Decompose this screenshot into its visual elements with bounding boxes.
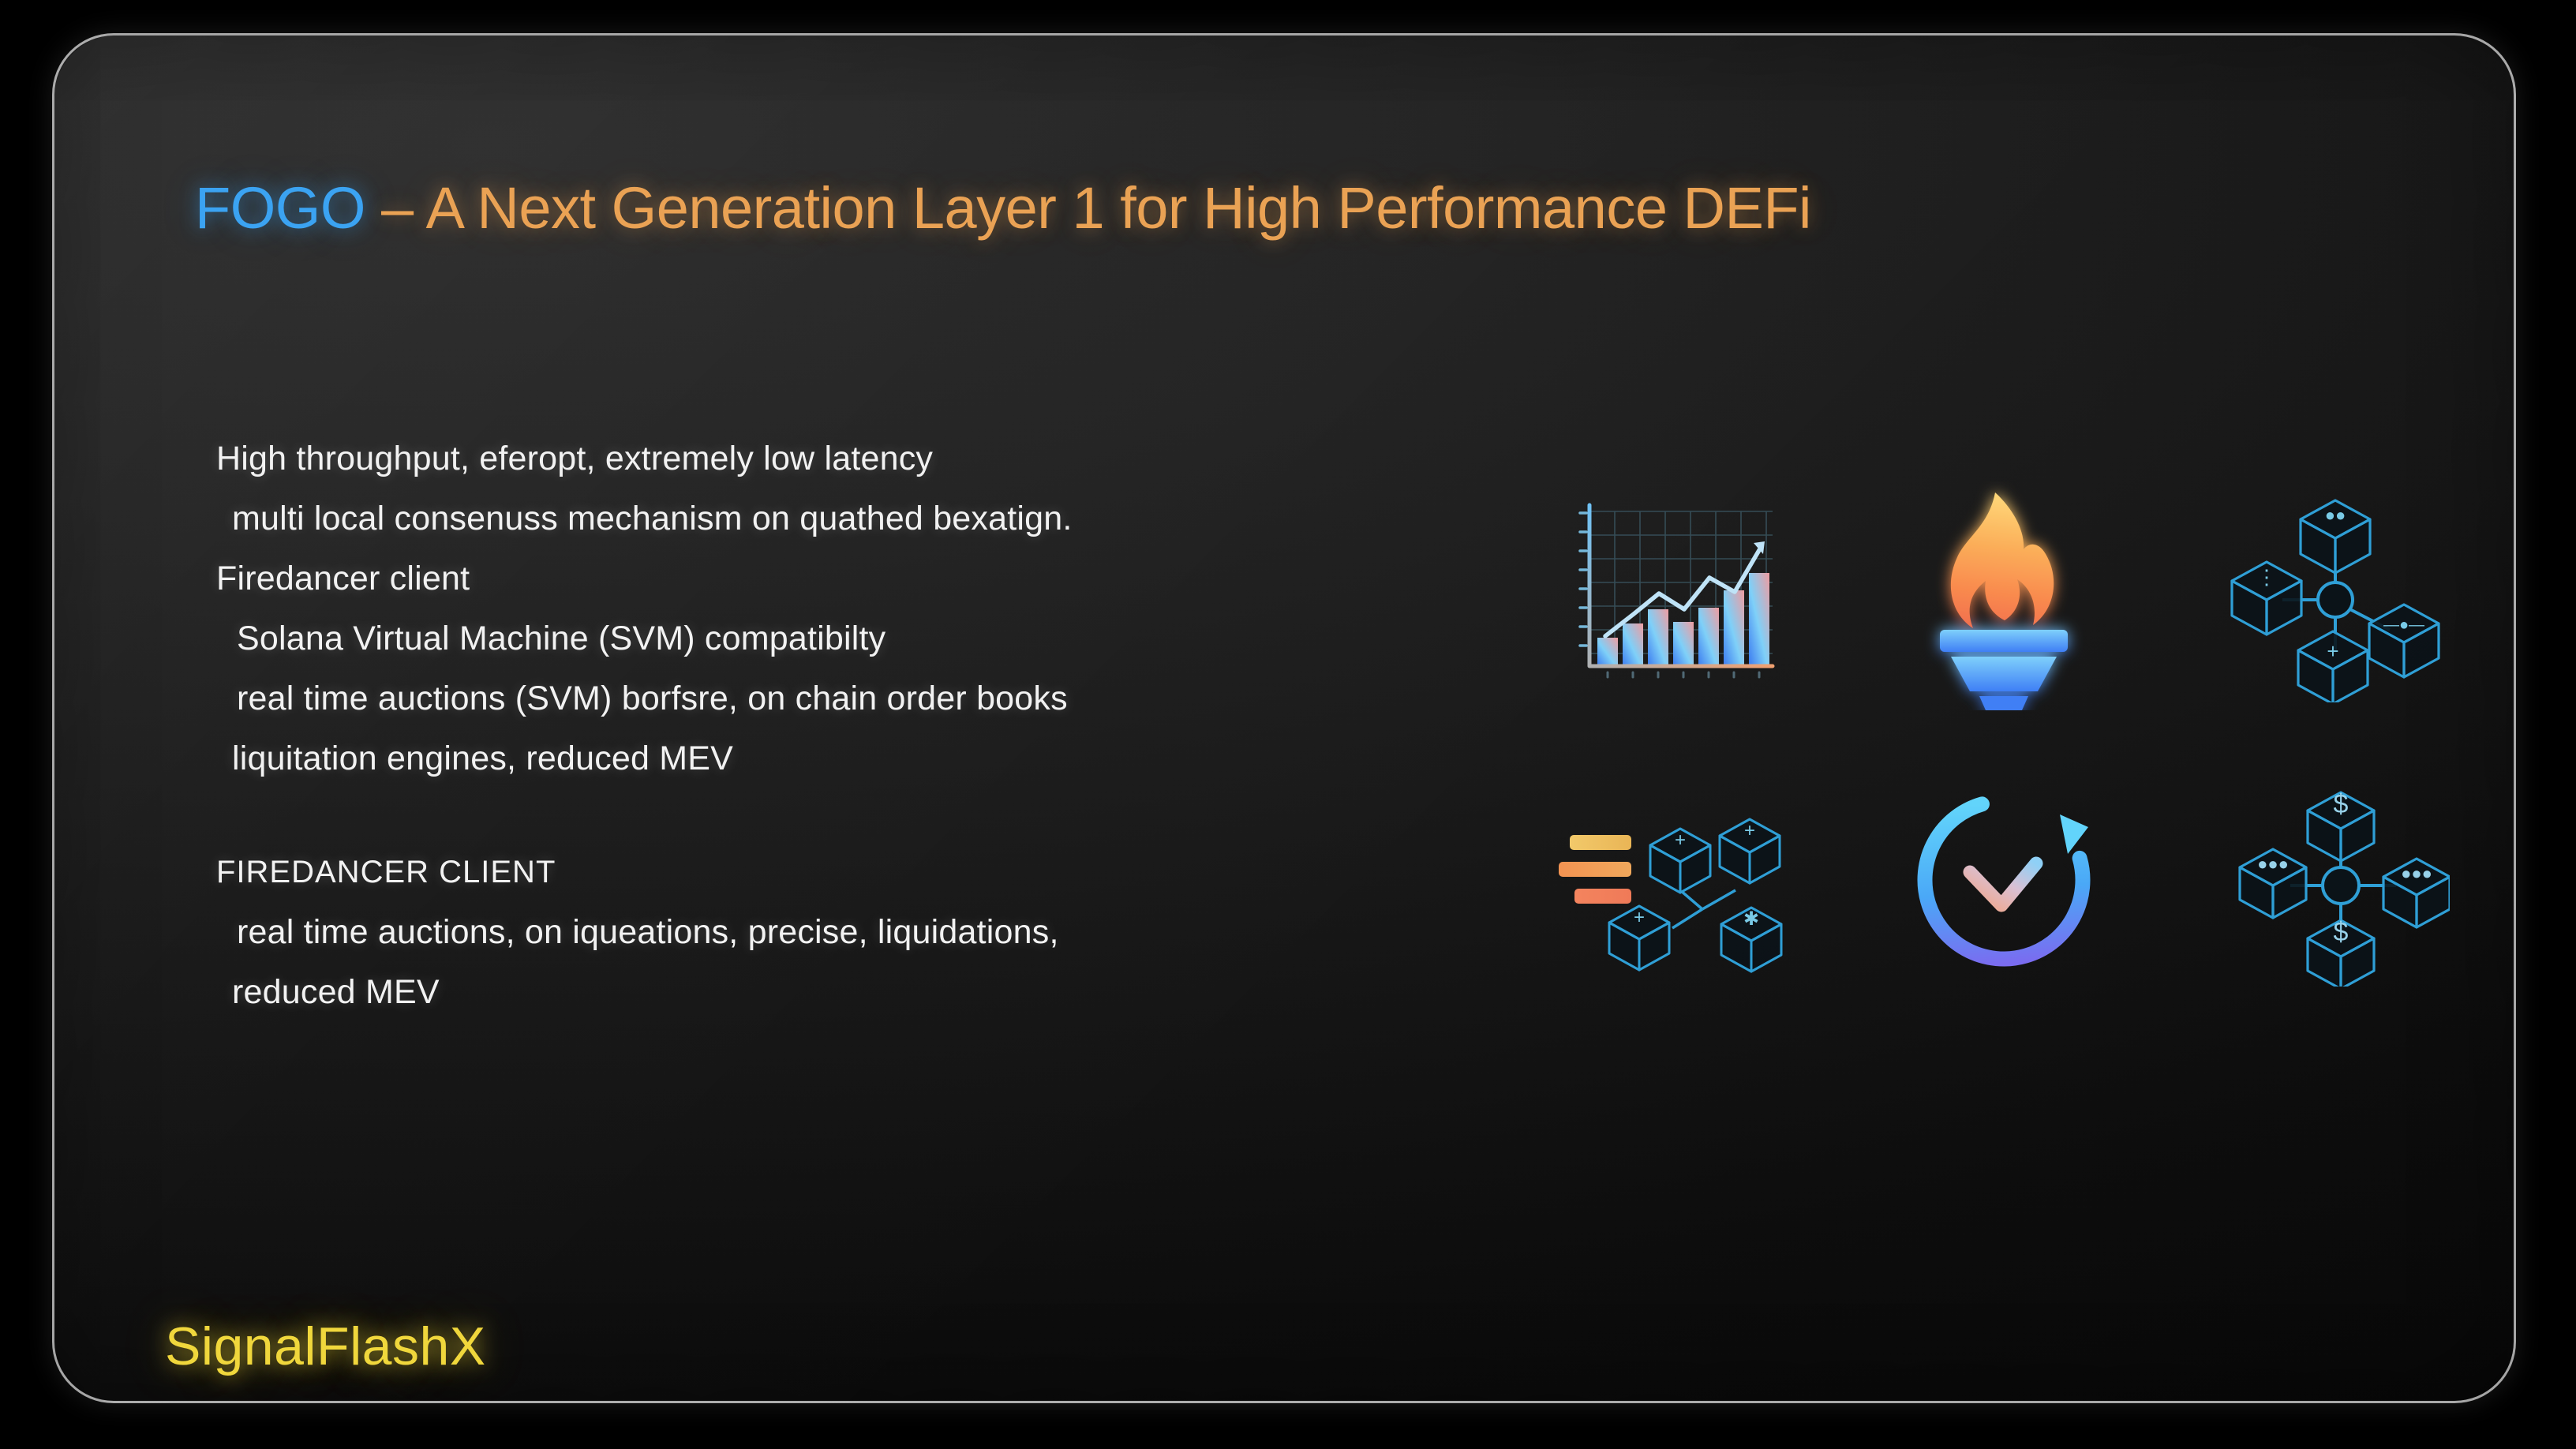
slide-canvas: FOGO – A Next Generation Layer 1 for Hig… <box>0 0 2576 1449</box>
icon-cell-chart <box>1507 454 1838 738</box>
icon-cell-ledger: + + + ✱ <box>1507 738 1838 1022</box>
feature-line: real time auctions, on iqueations, preci… <box>216 902 1495 962</box>
svg-text:+: + <box>1634 907 1645 928</box>
feature-block-primary: High throughput, eferopt, extremely low … <box>216 429 1495 788</box>
svg-text:$: $ <box>2334 789 2349 819</box>
icon-cell-network: ●● ⋮ + —●— <box>2170 454 2501 738</box>
feature-line: multi local consenuss mechanism on quath… <box>216 489 1495 549</box>
svg-text:+: + <box>1675 829 1686 851</box>
page-title: FOGO – A Next Generation Layer 1 for Hig… <box>195 174 1811 241</box>
title-brand: FOGO <box>195 175 365 241</box>
title-rest: – A Next Generation Layer 1 for High Per… <box>365 175 1811 241</box>
feature-line: reduced MEV <box>216 962 1495 1022</box>
icon-cell-clock <box>1838 738 2170 1022</box>
svg-text:✱: ✱ <box>1743 908 1759 930</box>
svg-text:●●: ●● <box>2325 505 2346 525</box>
svg-text:●●●: ●●● <box>2257 854 2289 874</box>
feature-line: Solana Virtual Machine (SVM) compatibilt… <box>216 608 1495 668</box>
feature-heading: FIREDANCER CLIENT <box>216 842 1495 902</box>
svg-text:●●●: ●●● <box>2401 863 2432 883</box>
icon-cell-value-network: $ ●●● $ ●●● <box>2170 738 2501 1022</box>
svg-text:+: + <box>1744 820 1755 841</box>
value-network-icon: $ ●●● $ ●●● <box>2221 773 2450 987</box>
bar-chart-growth-icon <box>1566 497 1779 695</box>
svg-text:—●—: —●— <box>2383 616 2424 634</box>
feature-line: Firedancer client <box>216 549 1495 608</box>
svg-text:+: + <box>2327 639 2338 663</box>
feature-line: real time auctions (SVM) borfsre, on cha… <box>216 668 1495 728</box>
blockchain-network-icon: ●● ⋮ + —●— <box>2221 489 2450 702</box>
feature-text-column: High throughput, eferopt, extremely low … <box>216 429 1495 1022</box>
content-card: FOGO – A Next Generation Layer 1 for Hig… <box>52 33 2516 1403</box>
feature-block-firedancer: FIREDANCER CLIENT real time auctions, on… <box>216 842 1495 1022</box>
icon-cell-torch <box>1838 454 2170 738</box>
watermark-signalflashx: SignalFlashX <box>165 1316 486 1377</box>
feature-line: liquitation engines, reduced MEV <box>216 728 1495 788</box>
realtime-clock-icon <box>1905 781 2102 979</box>
block-ledger-icon: + + + ✱ <box>1554 773 1791 987</box>
icon-grid: ●● ⋮ + —●— <box>1507 454 2501 1022</box>
svg-text:$: $ <box>2334 917 2349 947</box>
flame-torch-icon <box>1913 481 2095 710</box>
feature-line: High throughput, eferopt, extremely low … <box>216 429 1495 489</box>
svg-text:⋮: ⋮ <box>2256 565 2277 589</box>
